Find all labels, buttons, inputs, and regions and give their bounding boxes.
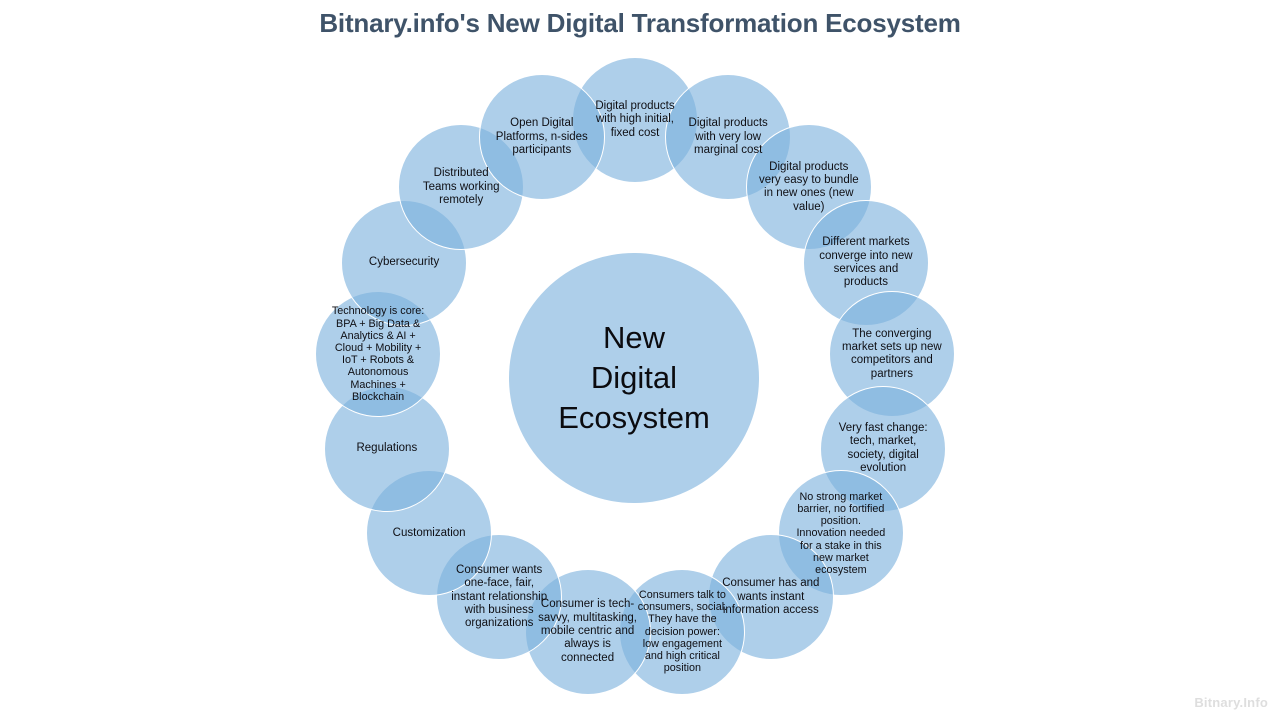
ring-circle-label-no-strong-market-barrier: No strong market barrier, no fortified p…: [792, 491, 889, 576]
ring-circle-label-open-digital-platforms: Open Digital Platforms, n-sides particip…: [492, 117, 592, 157]
digital-ecosystem-ring-diagram: Digital products with high initial, fixe…: [0, 0, 1280, 720]
slide-canvas: Bitnary.info's New Digital Transformatio…: [0, 0, 1280, 720]
ring-circle-label-different-markets-converge: Different markets converge into new serv…: [815, 236, 916, 289]
ring-circle-label-consumer-wants-one-face: Consumer wants one-face, fair, instant r…: [447, 564, 551, 631]
ring-circle-label-customization: Customization: [389, 527, 470, 540]
ring-circle-label-converging-market-new-competitors: The converging market sets up new compet…: [838, 328, 946, 381]
watermark: Bitnary.Info: [1194, 695, 1268, 710]
ring-circle-technology-is-core[interactable]: Technology is core: BPA + Big Data & Ana…: [315, 291, 441, 417]
ring-circle-label-technology-is-core: Technology is core: BPA + Big Data & Ana…: [328, 305, 428, 403]
ring-circle-label-very-fast-change: Very fast change: tech, market, society,…: [835, 422, 932, 475]
center-circle-label: New Digital Ecosystem: [558, 318, 710, 437]
ring-circle-label-digital-products-very-low-marginal-cost: Digital products with very low marginal …: [685, 117, 772, 157]
ring-circle-label-cybersecurity: Cybersecurity: [365, 256, 443, 269]
ring-circle-label-digital-products-high-initial-fixed-cost: Digital products with high initial, fixe…: [591, 100, 678, 140]
center-circle-new-digital-ecosystem[interactable]: New Digital Ecosystem: [508, 252, 760, 504]
ring-circle-label-digital-products-easy-to-bundle: Digital products very easy to bundle in …: [755, 161, 863, 214]
ring-circle-label-consumer-instant-information-access: Consumer has and wants instant informati…: [718, 577, 823, 617]
ring-circle-label-regulations: Regulations: [352, 442, 421, 455]
ring-circle-label-distributed-teams-working-remotely: Distributed Teams working remotely: [419, 167, 504, 207]
ring-circle-label-consumers-talk-to-consumers: Consumers talk to consumers, social. The…: [634, 589, 731, 674]
